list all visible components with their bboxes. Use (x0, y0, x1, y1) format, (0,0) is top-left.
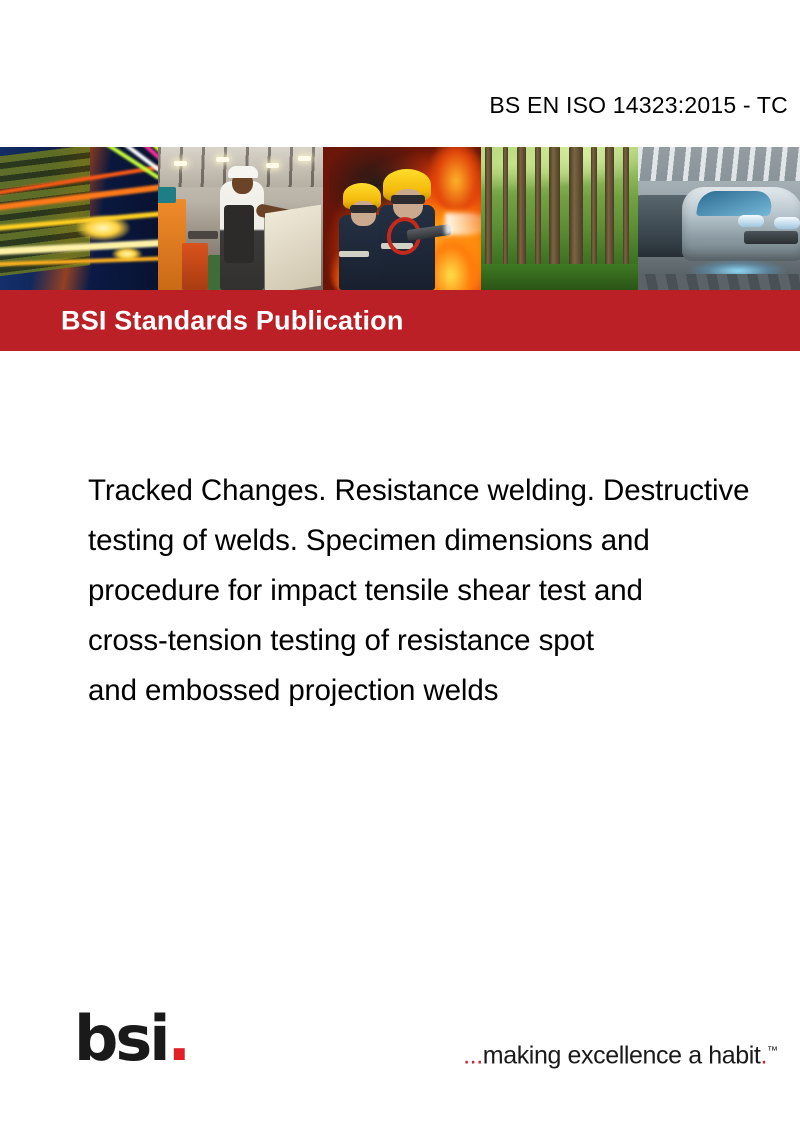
cover-photo-strip (0, 147, 800, 290)
document-number: BS EN ISO 14323:2015 - TC (489, 92, 788, 119)
water-spray (445, 213, 481, 235)
tree-trunk (569, 147, 583, 272)
car-windshield (696, 191, 774, 216)
tree-trunk (591, 147, 597, 272)
bsi-tagline: ...making excellence a habit.™ (463, 1036, 778, 1070)
tagline-text: making excellence a habit (483, 1041, 761, 1069)
bsi-logo: bsi. (74, 1008, 188, 1070)
photo-car-assembly-line (638, 147, 800, 290)
ceiling-lamp (174, 161, 187, 166)
title-line-5: and embossed projection welds (88, 666, 800, 716)
tagline-ellipsis: ... (463, 1041, 483, 1069)
publication-title: Tracked Changes. Resistance welding. Des… (88, 466, 800, 716)
tree-trunk (517, 147, 526, 272)
assembly-floor (638, 274, 800, 290)
tree-trunk (549, 147, 560, 272)
light-glow (112, 247, 142, 261)
photo-firefighters (323, 147, 481, 290)
bsi-logo-dot: . (168, 1002, 189, 1075)
hi-vis-stripe (339, 251, 369, 257)
ceiling-lamp (216, 157, 229, 162)
bsi-standards-banner: BSI Standards Publication (0, 290, 800, 351)
firefighter-mask (350, 205, 377, 213)
title-line-1: Tracked Changes. Resistance welding. Des… (88, 466, 800, 516)
tree-trunk (605, 147, 614, 272)
bsi-logo-text: bsi (74, 1002, 168, 1075)
building-shape (0, 147, 90, 277)
title-line-2: testing of welds. Specimen dimensions an… (88, 516, 800, 566)
flame (429, 147, 481, 209)
car-grille (744, 231, 798, 244)
title-line-3: procedure for impact tensile shear test … (88, 566, 800, 616)
car-headlight (738, 215, 764, 227)
car-headlight (774, 217, 800, 229)
ceiling-lamp (298, 156, 311, 161)
trademark-symbol: ™ (767, 1045, 778, 1057)
worker-apron (224, 205, 254, 263)
ceiling-lamp (266, 163, 279, 168)
trolley (188, 231, 218, 239)
forest-floor (481, 264, 638, 290)
tree-trunk (623, 147, 629, 272)
photo-forest (481, 147, 638, 290)
tree-trunk (503, 147, 508, 272)
tree-trunk (535, 147, 541, 272)
firefighter-mask (391, 195, 425, 204)
workbench-panel (265, 205, 321, 290)
crate (158, 187, 176, 203)
photo-traffic-light-trails (0, 147, 158, 290)
tree-trunk (485, 147, 492, 272)
firefighter-face (393, 189, 423, 219)
crate (182, 243, 208, 290)
banner-label: BSI Standards Publication (61, 305, 404, 336)
photo-warehouse-worker (158, 147, 323, 290)
light-glow (76, 215, 130, 241)
title-line-4: cross-tension testing of resistance spot (88, 616, 800, 666)
factory-roof (638, 147, 800, 181)
worker-cap (228, 166, 258, 178)
